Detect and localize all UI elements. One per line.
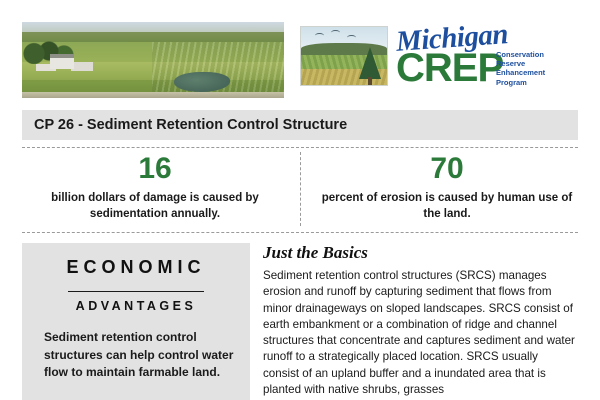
logo-subtitle-line-2: Reserve <box>496 59 545 68</box>
stat-number: 70 <box>312 152 582 186</box>
economic-panel-title: ECONOMIC <box>22 257 250 278</box>
divider-bottom <box>22 232 578 234</box>
bird-icon <box>347 35 356 40</box>
divider-top <box>22 147 578 149</box>
page-header: Michigan CREP Conservation Reserve Enhan… <box>0 0 600 110</box>
logo-landscape-icon <box>300 26 388 86</box>
logo-subtitle: Conservation Reserve Enhancement Program <box>496 50 545 87</box>
divider-vertical <box>300 152 301 226</box>
stat-block-2: 70 percent of erosion is caused by human… <box>312 152 582 222</box>
section-title-bar: CP 26 - Sediment Retention Control Struc… <box>22 110 578 140</box>
basics-heading: Just the Basics <box>263 243 368 263</box>
farm-aerial-photo <box>22 22 284 98</box>
economic-panel-body: Sediment retention control structures ca… <box>44 329 234 382</box>
stat-number: 16 <box>20 152 290 186</box>
stat-caption: billion dollars of damage is caused by s… <box>20 190 290 222</box>
evergreen-tree-icon <box>359 47 381 79</box>
logo-program-word: CREP <box>396 48 503 88</box>
logo-subtitle-line-1: Conservation <box>496 50 545 59</box>
logo-subtitle-line-3: Enhancement <box>496 68 545 77</box>
basics-body-text: Sediment retention control structures (S… <box>263 268 575 398</box>
economic-panel-rule <box>68 291 204 292</box>
photo-road <box>22 92 284 98</box>
tree-trunk-icon <box>368 77 372 85</box>
bird-icon <box>315 33 324 38</box>
stat-block-1: 16 billion dollars of damage is caused b… <box>20 152 290 222</box>
photo-farm-buildings <box>50 58 74 69</box>
bird-icon <box>331 30 340 35</box>
economic-advantages-panel: ECONOMIC ADVANTAGES Sediment retention c… <box>22 243 250 400</box>
economic-panel-subtitle: ADVANTAGES <box>22 299 250 313</box>
logo-subtitle-line-4: Program <box>496 78 545 87</box>
michigan-crep-logo: Michigan CREP Conservation Reserve Enhan… <box>300 18 582 100</box>
page-title: CP 26 - Sediment Retention Control Struc… <box>22 117 347 133</box>
stat-caption: percent of erosion is caused by human us… <box>312 190 582 222</box>
